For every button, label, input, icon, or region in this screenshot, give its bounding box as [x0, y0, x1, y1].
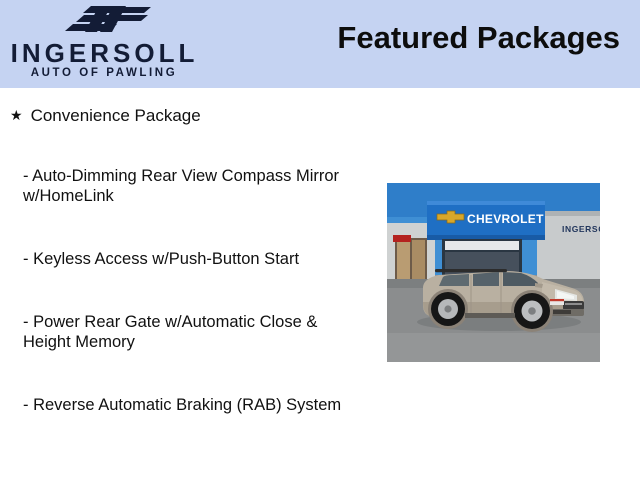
page-title: Featured Packages — [337, 20, 620, 56]
svg-text:CHEVROLET: CHEVROLET — [467, 212, 544, 226]
package-heading: ★Convenience Package — [10, 106, 201, 126]
feature-item: - Auto-Dimming Rear View Compass Mirror … — [23, 166, 368, 206]
content-area: ★Convenience Package - Auto-Dimming Rear… — [0, 88, 640, 480]
header-band: INGERSOLL AUTO OF PAWLING Featured Packa… — [0, 0, 640, 88]
star-bullet-icon: ★ — [10, 107, 23, 124]
brand-name: INGERSOLL — [0, 39, 205, 67]
feature-item: - Keyless Access w/Push-Button Start — [23, 249, 368, 269]
ingersoll-wing-emblem — [51, 4, 155, 38]
package-title: Convenience Package — [31, 106, 201, 125]
feature-item: - Reverse Automatic Braking (RAB) System — [23, 395, 368, 415]
svg-text:INGERSO: INGERSO — [562, 224, 600, 234]
feature-item: - Power Rear Gate w/Automatic Close & He… — [23, 312, 368, 352]
feature-list: - Auto-Dimming Rear View Compass Mirror … — [23, 166, 368, 458]
vehicle-photo: INGERSO CHEVROLET — [387, 183, 600, 362]
brand-logo: INGERSOLL AUTO OF PAWLING — [0, 4, 205, 84]
brand-tagline: AUTO OF PAWLING — [0, 66, 205, 80]
vehicle-photo-image: INGERSO CHEVROLET — [387, 183, 600, 362]
